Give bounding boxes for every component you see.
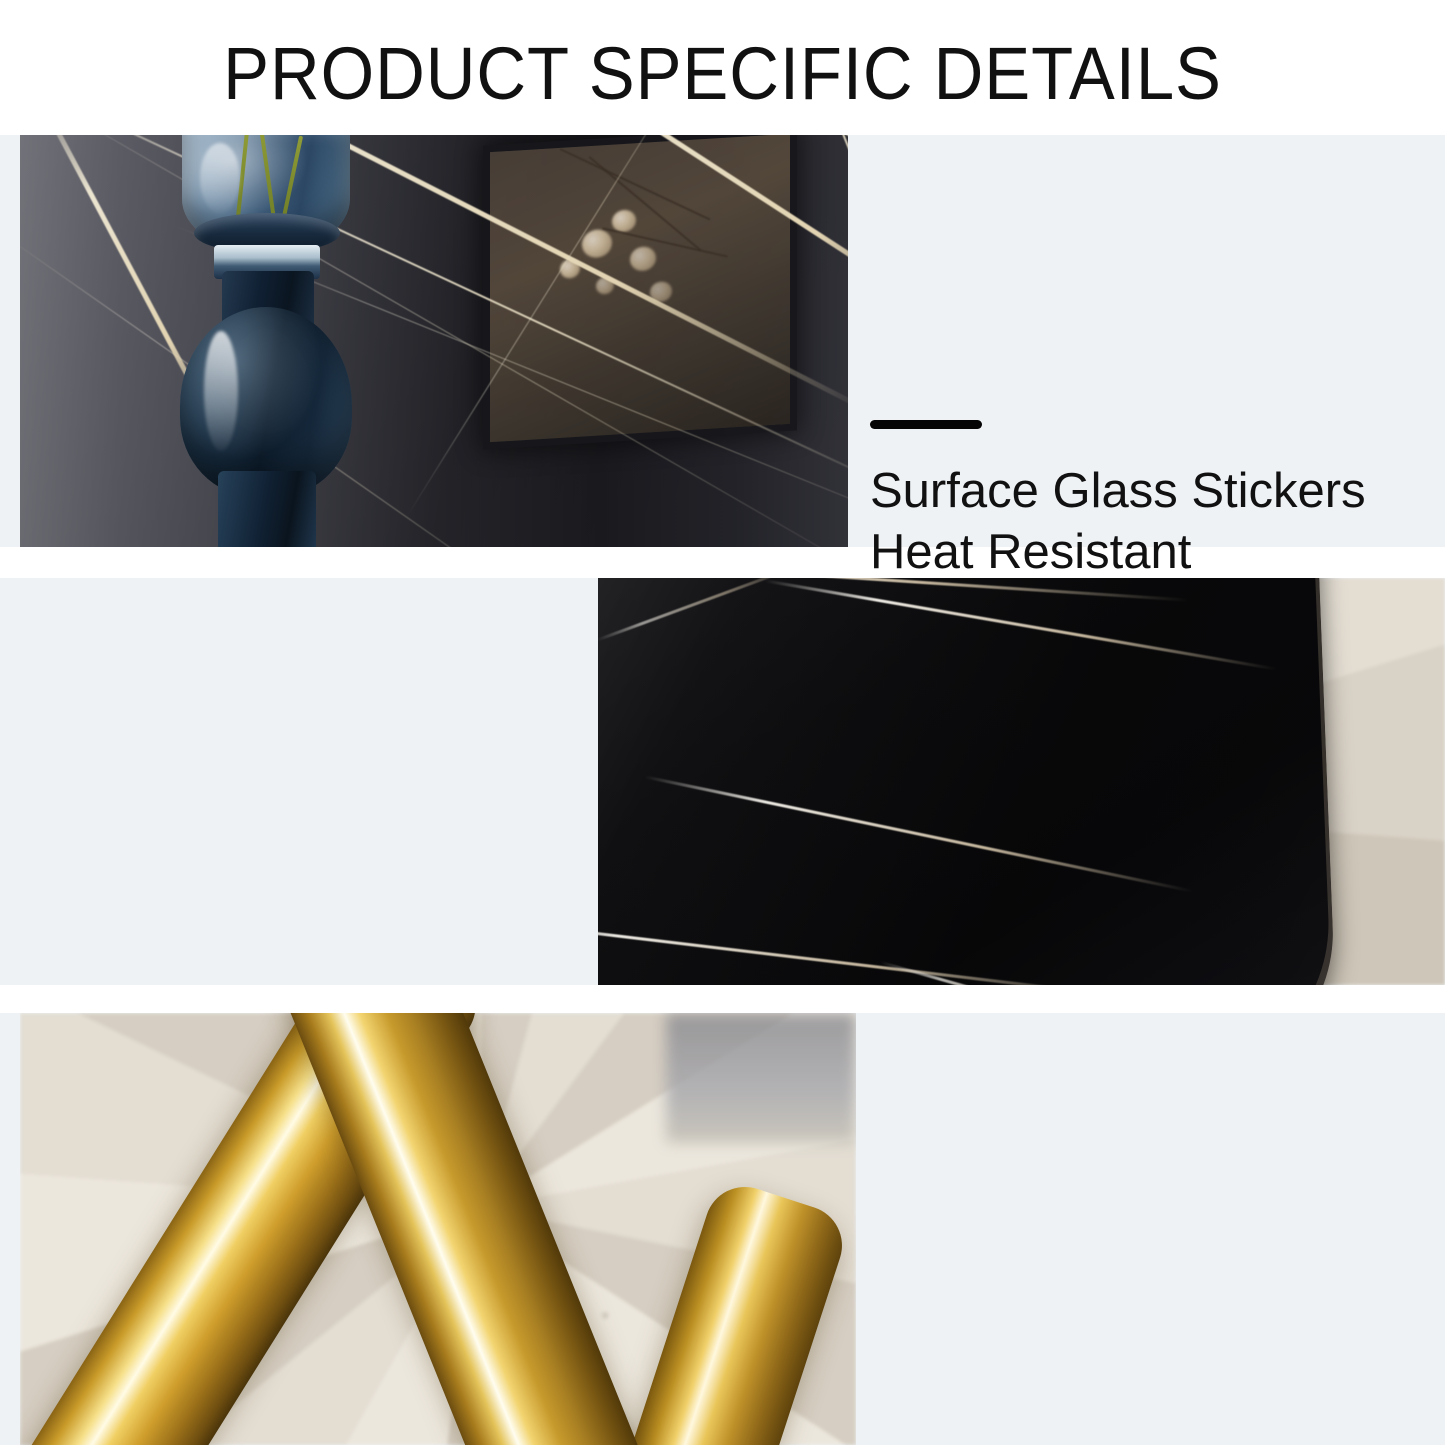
caption-line-1: Surface Glass Stickers <box>870 461 1366 522</box>
black-marble-tabletop <box>598 578 1338 985</box>
product-details-page: PRODUCT SPECIFIC DETAILS <box>0 0 1445 1445</box>
caption-surface-glass-stickers: Surface Glass Stickers Heat Resistant <box>870 420 1366 583</box>
metal-legs-photo <box>20 1013 856 1445</box>
framed-picture-reflection <box>490 135 790 442</box>
panel-metal-legs: Metal Legs Stable Support <box>0 1013 1445 1445</box>
panel-curved-edges: Curved Edges Simple And Elegant <box>0 578 1445 985</box>
panel-surface-glass-stickers: Surface Glass Stickers Heat Resistant <box>0 135 1445 547</box>
dark-marble-background <box>20 135 848 547</box>
surface-glass-stickers-photo <box>20 135 848 547</box>
curved-edges-photo <box>598 578 1445 985</box>
caption-line-2: Heat Resistant <box>870 522 1366 583</box>
page-title: PRODUCT SPECIFIC DETAILS <box>51 34 1395 114</box>
accent-rule <box>870 420 982 429</box>
blue-glass-vase <box>170 135 360 547</box>
